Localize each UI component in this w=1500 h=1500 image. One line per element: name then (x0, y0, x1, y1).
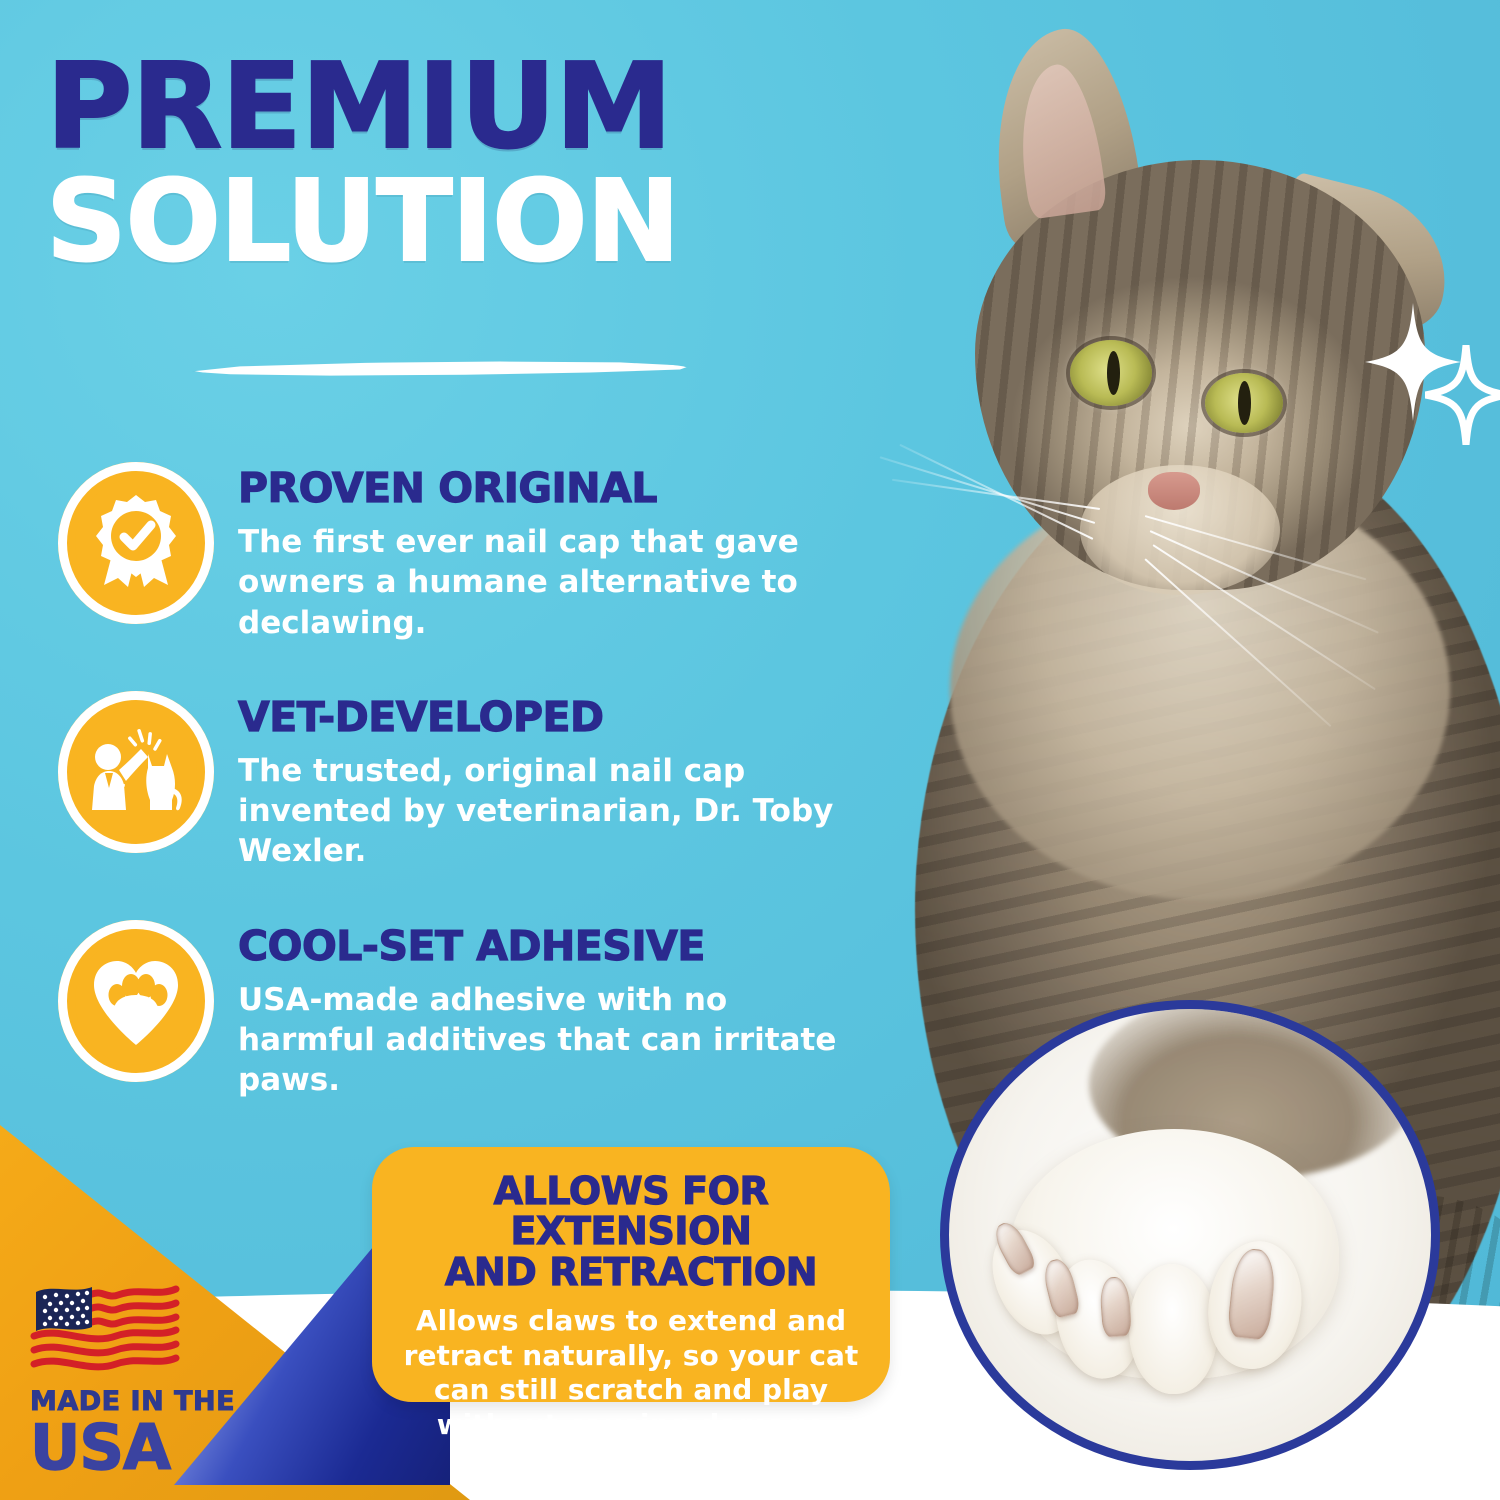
callout-title-line2: AND RETRACTION (398, 1252, 864, 1292)
cat-eye-right (1205, 373, 1283, 433)
award-ribbon-check-icon (58, 462, 214, 624)
cat-whisker (899, 444, 1093, 540)
cat-whisker (1144, 558, 1331, 727)
feature-title: PROVEN ORIGINAL (238, 468, 838, 509)
made-in-usa-badge: MADE IN THE USA (30, 1282, 260, 1480)
sparkle-star-outline-icon (1425, 345, 1500, 445)
heart-paw-icon (58, 920, 214, 1082)
cat-ruff (950, 480, 1450, 900)
cat-pupil-right (1238, 381, 1251, 425)
cat-pupil-left (1107, 351, 1120, 395)
usa-flag-icon (30, 1282, 180, 1374)
feature-item: VET-DEVELOPED The trusted, original nail… (58, 691, 858, 872)
feature-description: The trusted, original nail cap invented … (238, 751, 838, 872)
callout-title: ALLOWS FOR EXTENSION AND RETRACTION (398, 1171, 864, 1292)
cat-eye-left (1070, 340, 1152, 406)
cat-head-stripes (975, 160, 1425, 590)
feature-description: USA-made adhesive with no harmful additi… (238, 980, 838, 1101)
feature-title: VET-DEVELOPED (238, 697, 838, 738)
cat-whisker (892, 479, 1100, 510)
feature-list: PROVEN ORIGINAL The first ever nail cap … (58, 462, 858, 1149)
feature-item: PROVEN ORIGINAL The first ever nail cap … (58, 462, 858, 643)
feature-title: COOL-SET ADHESIVE (238, 926, 838, 967)
cat-whisker (1150, 530, 1379, 634)
feature-text: PROVEN ORIGINAL The first ever nail cap … (238, 462, 838, 643)
cat-ear-inner-left (1010, 60, 1108, 219)
callout-body: Allows claws to extend and retract natur… (398, 1304, 864, 1443)
feature-item: COOL-SET ADHESIVE USA-made adhesive with… (58, 920, 858, 1101)
cat-nose (1148, 472, 1200, 510)
headline-line1: PREMIUM (46, 52, 846, 161)
extension-retraction-callout: ALLOWS FOR EXTENSION AND RETRACTION Allo… (372, 1147, 890, 1402)
cat-whisker (1152, 544, 1375, 690)
feature-description: The first ever nail cap that gave owners… (238, 522, 838, 643)
cat-head (975, 160, 1425, 590)
cat-whisker (880, 456, 1096, 524)
feature-text: VET-DEVELOPED The trusted, original nail… (238, 691, 838, 872)
paw-closeup-inset (940, 1000, 1440, 1470)
white-brush-underline (190, 358, 690, 380)
callout-title-line1: ALLOWS FOR EXTENSION (398, 1171, 864, 1252)
headline-line2: SOLUTION (46, 169, 846, 275)
product-infographic: PREMIUM SOLUTION PROVEN ORIGINAL T (0, 0, 1500, 1500)
feature-text: COOL-SET ADHESIVE USA-made adhesive with… (238, 920, 838, 1101)
vet-high-five-cat-icon (58, 691, 214, 853)
headline: PREMIUM SOLUTION (46, 52, 846, 275)
made-in-usa-line2: USA (30, 1415, 260, 1480)
cat-muzzle (1080, 465, 1280, 595)
cat-whisker (1145, 515, 1367, 580)
cat-ear-left (979, 21, 1147, 248)
